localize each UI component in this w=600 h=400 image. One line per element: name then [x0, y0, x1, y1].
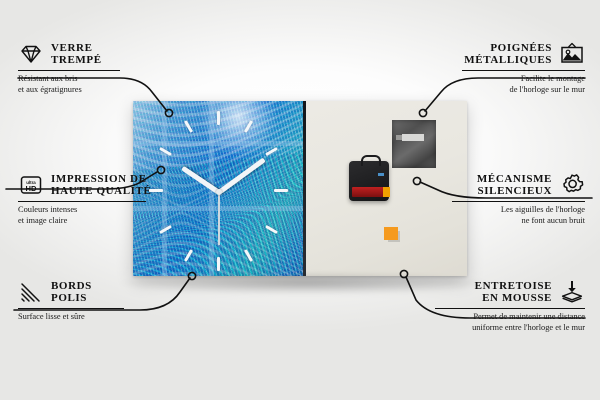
feature-divider [18, 308, 124, 309]
foam-spacer-pad [384, 227, 398, 240]
infographic-canvas: VERRE TREMPÉ Résistant aux bris et aux é… [0, 0, 600, 400]
battery-terminal [383, 187, 390, 197]
clock-center-cap [216, 189, 222, 195]
clock-tick [274, 189, 288, 192]
feature-description: Les aiguilles de l'horloge ne font aucun… [452, 205, 585, 226]
feature-divider [452, 201, 585, 202]
feature-verre-trempe: VERRE TREMPÉ Résistant aux bris et aux é… [18, 41, 138, 95]
clock-back-panel [306, 101, 467, 276]
ultra-hd-icon: ultra HD [18, 172, 44, 198]
clock-pattern-gridline [162, 101, 167, 276]
mechanism-hanging-loop [361, 155, 381, 166]
feature-entretoise-en-mousse: ENTRETOISE EN MOUSSE Permet de maintenir… [435, 279, 585, 333]
picture-hanger-icon [559, 41, 585, 67]
feature-description: Permet de maintenir une distance uniform… [435, 312, 585, 333]
diamond-icon [18, 41, 44, 67]
feature-header: VERRE TREMPÉ [18, 41, 138, 67]
metal-hanger-plate [392, 120, 436, 168]
feature-header: ENTRETOISE EN MOUSSE [435, 279, 585, 305]
feature-divider [435, 308, 585, 309]
clock-pattern-gridline [133, 141, 306, 146]
feature-bords-polis: BORDS POLIS Surface lisse et sûre [18, 279, 136, 323]
feature-title: ENTRETOISE EN MOUSSE [475, 280, 552, 305]
feature-title: VERRE TREMPÉ [51, 42, 102, 67]
clock-second-hand [218, 191, 220, 245]
clock-tick [217, 111, 220, 125]
feature-poignees-metalliques: POIGNÉES MÉTALLIQUES Facilite le montage… [462, 41, 585, 95]
svg-text:HD: HD [26, 184, 37, 193]
feature-title: MÉCANISME SILENCIEUX [477, 173, 552, 198]
hanger-keyhole-slot [402, 134, 424, 141]
feature-header: MÉCANISME SILENCIEUX [452, 172, 585, 198]
feature-description: Facilite le montage de l'horloge sur le … [462, 74, 585, 95]
feature-mecanisme-silencieux: MÉCANISME SILENCIEUX Les aiguilles de l'… [452, 172, 585, 226]
polished-edges-icon [18, 279, 44, 305]
feature-divider [18, 70, 120, 71]
feature-divider [462, 70, 585, 71]
feature-description: Surface lisse et sûre [18, 312, 136, 323]
feature-title: IMPRESSION DE HAUTE QUALITÉ [51, 173, 151, 198]
feature-description: Couleurs intenses et image claire [18, 205, 160, 226]
feature-header: POIGNÉES MÉTALLIQUES [462, 41, 585, 67]
feature-divider [18, 201, 146, 202]
foam-spacer-icon [559, 279, 585, 305]
feature-impression-haute-qualite: ultra HD IMPRESSION DE HAUTE QUALITÉ Cou… [18, 172, 160, 226]
feature-title: POIGNÉES MÉTALLIQUES [464, 42, 552, 67]
feature-header: BORDS POLIS [18, 279, 136, 305]
clock-tick [217, 257, 220, 271]
clock-mechanism [349, 161, 389, 201]
battery [352, 187, 384, 197]
feature-title: BORDS POLIS [51, 280, 92, 305]
gear-icon [559, 172, 585, 198]
feature-header: ultra HD IMPRESSION DE HAUTE QUALITÉ [18, 172, 160, 198]
mechanism-label [378, 173, 384, 176]
product-photo [133, 101, 467, 276]
feature-description: Résistant aux bris et aux égratignures [18, 74, 138, 95]
